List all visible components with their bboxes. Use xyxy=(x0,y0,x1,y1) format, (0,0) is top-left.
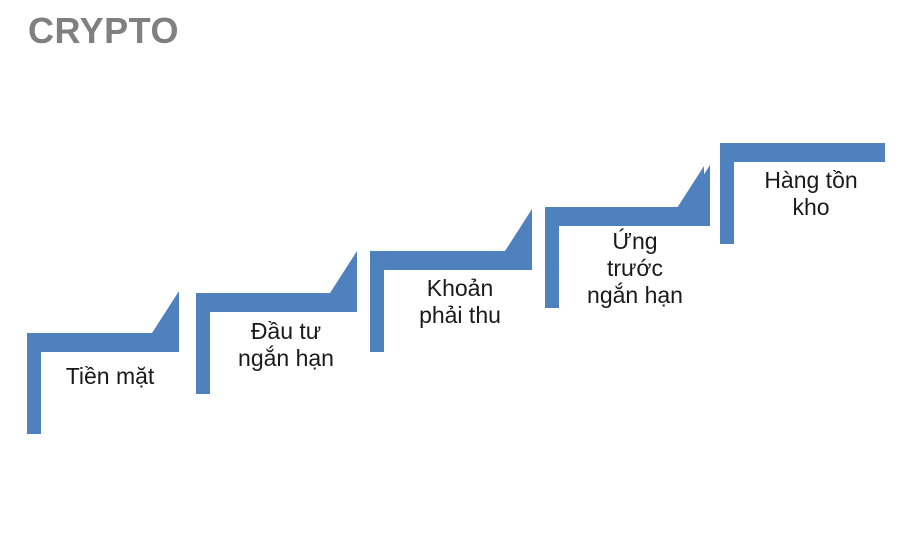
step-2-arrow-icon xyxy=(330,251,357,293)
step-1-arrow-icon xyxy=(152,291,179,333)
step-2-riser-bar xyxy=(196,293,210,394)
step-4-riser-bar xyxy=(545,207,559,308)
step-3-top-bar xyxy=(370,251,532,270)
step-4-label: Ứng trước ngắn hạn xyxy=(561,228,709,309)
step-5-top-bar xyxy=(720,143,885,162)
step-5-label: Hàng tồn kho xyxy=(736,167,886,221)
page-title: CRYPTO xyxy=(28,13,179,49)
step-3-riser-bar xyxy=(370,251,384,352)
step-2-top-bar xyxy=(196,293,357,312)
step-3-arrow-icon xyxy=(505,209,532,251)
step-1-label: Tiền mặt xyxy=(42,363,178,390)
step-5-riser-bar xyxy=(720,143,734,244)
diagram-canvas: CRYPTO Tiền mặt Đầu tư ngắn hạn Khoản ph… xyxy=(0,0,900,545)
step-5-leading-arrow-icon xyxy=(677,166,704,208)
step-4-top-bar xyxy=(545,207,710,226)
step-3-label: Khoản phải thu xyxy=(386,275,534,329)
step-1-riser-bar xyxy=(27,333,41,434)
step-1-top-bar xyxy=(27,333,179,352)
step-2-label: Đầu tư ngắn hạn xyxy=(212,318,360,372)
